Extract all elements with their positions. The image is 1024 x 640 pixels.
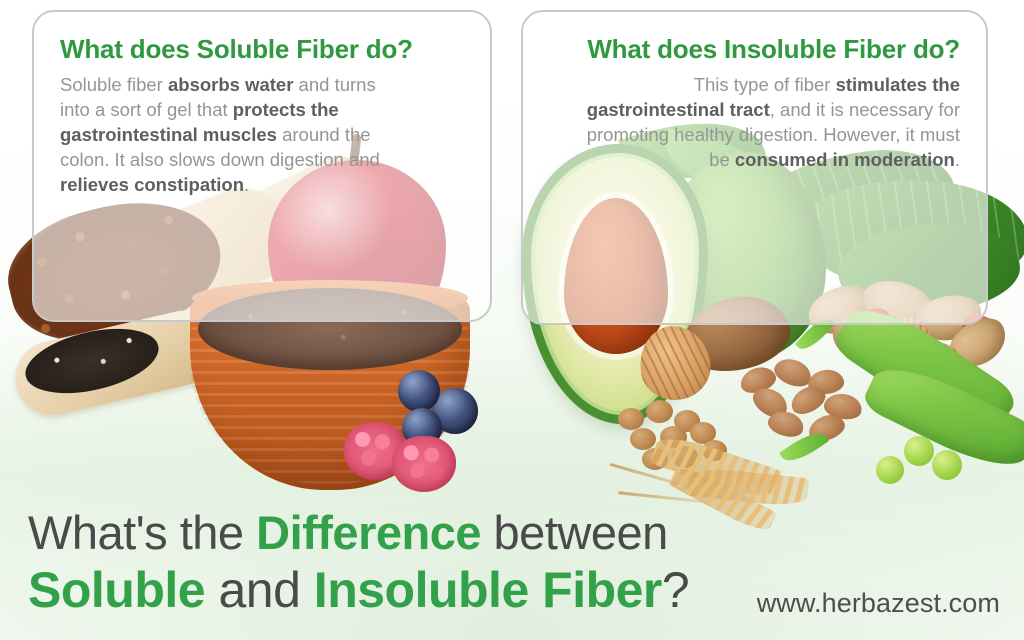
website-url[interactable]: www.herbazest.com — [757, 588, 1000, 619]
almond — [914, 336, 982, 419]
pinto-bean — [765, 408, 806, 441]
plain-text: . — [955, 149, 960, 170]
insoluble-fiber-panel: What does Insoluble Fiber do? This type … — [521, 10, 988, 325]
chia-seeds — [19, 317, 165, 404]
plain-text: Soluble fiber — [60, 74, 168, 95]
lentil — [690, 422, 716, 444]
lentil — [674, 410, 700, 432]
blueberry — [402, 408, 442, 448]
pinto-bean — [822, 391, 864, 422]
insoluble-fiber-panel-title: What does Insoluble Fiber do? — [549, 34, 960, 64]
raspberry — [392, 436, 456, 492]
pecan — [635, 321, 715, 404]
emphasis-text: absorbs water — [168, 74, 293, 95]
lentil — [660, 426, 687, 448]
green-pea — [876, 456, 904, 484]
pinto-bean — [737, 363, 779, 397]
infographic-canvas: What does Soluble Fiber do? Soluble fibe… — [0, 0, 1024, 640]
wheat-stalk — [687, 466, 809, 508]
raspberry — [344, 422, 406, 480]
headline-line-1: What's the Difference between — [28, 505, 748, 561]
plain-text: This type of fiber — [694, 74, 836, 95]
wooden-spoon — [8, 308, 210, 423]
headline-plain-word: ? — [662, 562, 689, 618]
soluble-fiber-panel-body: Soluble fiber absorbs water and turns in… — [60, 72, 400, 197]
soluble-fiber-panel-title: What does Soluble Fiber do? — [60, 34, 464, 64]
pea-sprout — [779, 426, 829, 468]
plain-text: . — [244, 174, 249, 195]
almond — [868, 311, 942, 405]
headline-accent-word: Soluble — [28, 562, 205, 618]
green-pea — [932, 450, 962, 480]
blueberry — [432, 388, 478, 434]
wheat-stem — [609, 463, 702, 492]
wheat-stalk — [650, 431, 782, 503]
headline-line-2: Soluble and Insoluble Fiber? — [28, 561, 748, 619]
bowl-ridges — [190, 316, 470, 484]
raspberry-leaf — [435, 403, 472, 426]
lentil — [642, 448, 668, 470]
emphasis-text: consumed in moderation — [735, 149, 955, 170]
headline-accent-word: Difference — [256, 506, 481, 559]
lentil — [672, 446, 698, 468]
headline-plain-word: between — [481, 506, 668, 559]
lentil — [646, 400, 673, 423]
lentil — [630, 428, 656, 450]
pinto-bean — [805, 410, 848, 445]
green-pea — [904, 436, 934, 466]
headline-plain-word: What's the — [28, 506, 256, 559]
headline-accent-word: Insoluble Fiber — [314, 562, 662, 618]
emphasis-text: relieves constipation — [60, 174, 244, 195]
blueberry — [398, 370, 440, 412]
lentil — [618, 408, 644, 430]
snap-pea-pod — [860, 353, 1024, 481]
pinto-bean — [748, 382, 793, 423]
soluble-fiber-panel: What does Soluble Fiber do? Soluble fibe… — [32, 10, 492, 322]
lentil — [702, 440, 727, 461]
pinto-bean — [807, 368, 845, 396]
headline: What's the Difference between Soluble an… — [28, 505, 748, 619]
pinto-bean — [786, 381, 829, 419]
insoluble-fiber-panel-body: This type of fiber stimulates the gastro… — [582, 72, 960, 172]
pinto-bean — [771, 354, 816, 391]
wheat-stem — [618, 491, 710, 504]
headline-plain-word: and — [205, 562, 314, 618]
